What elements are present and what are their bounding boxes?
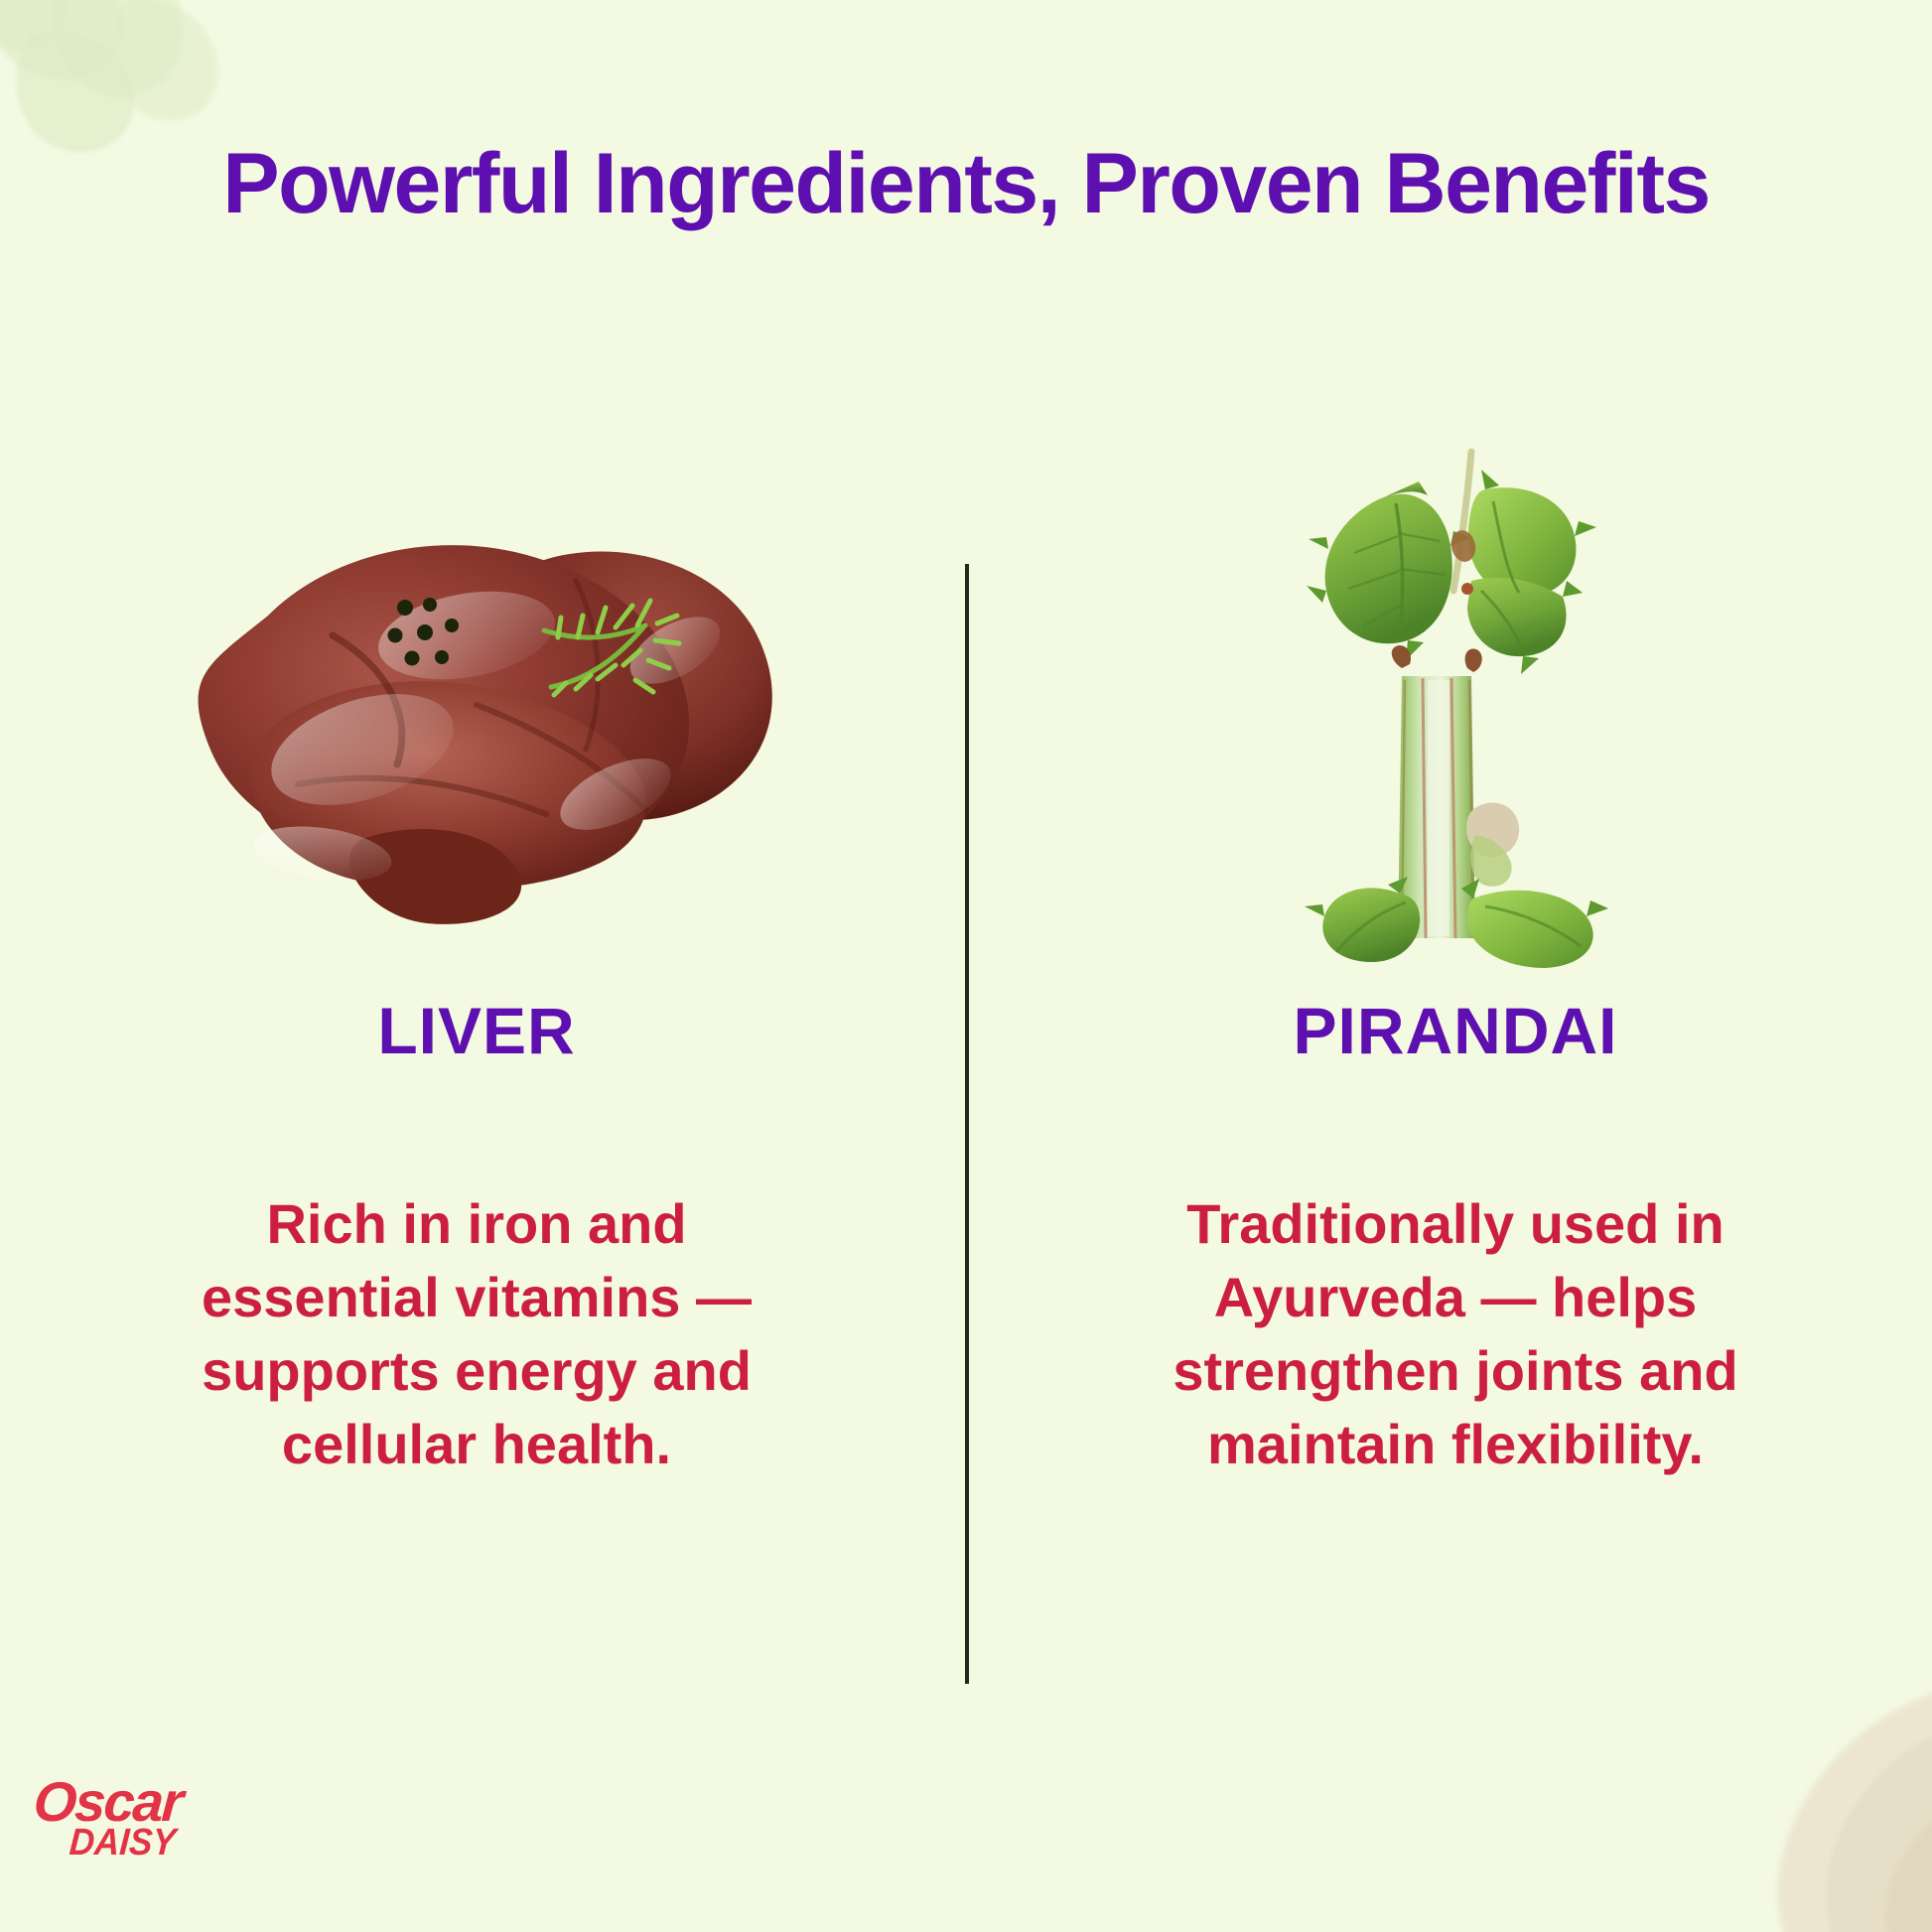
ingredient-description-liver: Rich in iron and essential vitamins — su… [169,1187,784,1481]
liver-illustration-icon [149,467,804,943]
pirandai-image [999,427,1912,983]
brand-logo-line2: DAISY [69,1824,230,1862]
ingredient-card-liver: LIVER Rich in iron and essential vitamin… [20,427,933,1481]
liver-image [20,427,933,983]
pirandai-illustration-icon [1277,442,1634,968]
brand-logo[interactable]: Oscar DAISY [34,1775,242,1884]
ingredient-label-pirandai: PIRANDAI [999,993,1912,1068]
ingredient-card-pirandai: PIRANDAI Traditionally used in Ayurveda … [999,427,1912,1481]
brand-logo-line1: Oscar [32,1775,244,1828]
ingredient-description-pirandai: Traditionally used in Ayurveda — helps s… [1128,1187,1783,1481]
ingredient-columns: LIVER Rich in iron and essential vitamin… [0,0,1932,1932]
ingredient-label-liver: LIVER [20,993,933,1068]
poster-canvas: Powerful Ingredients, Proven Benefits [0,0,1932,1932]
